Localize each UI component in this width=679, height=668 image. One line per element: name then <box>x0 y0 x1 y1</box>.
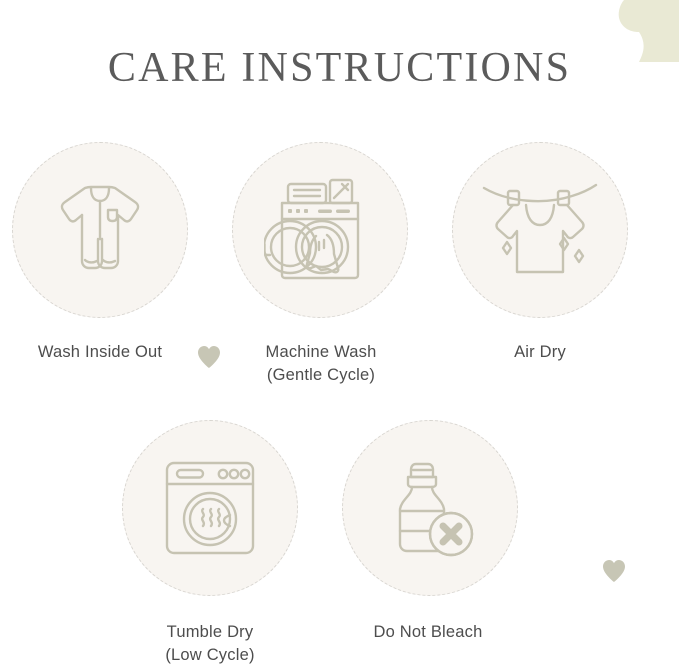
care-label-wash-inside-out: Wash Inside Out <box>0 341 200 364</box>
care-label-air-dry: Air Dry <box>440 341 640 364</box>
baby-onesie-icon <box>45 175 155 285</box>
tumble-dryer-icon <box>155 453 265 563</box>
heart-icon-bottom-right <box>601 558 627 584</box>
care-label-machine-wash: Machine Wash (Gentle Cycle) <box>221 341 421 387</box>
care-icon-circle-do-not-bleach <box>342 420 518 596</box>
care-icon-circle-wash-inside-out <box>12 142 188 318</box>
care-icon-circle-machine-wash <box>232 142 408 318</box>
care-icon-circle-tumble-dry <box>122 420 298 596</box>
washing-machine-icon <box>264 174 376 286</box>
page-title: CARE INSTRUCTIONS <box>0 44 679 92</box>
care-instructions-card: CARE INSTRUCTIONS Wash Inside Out <box>0 0 679 668</box>
care-label-do-not-bleach: Do Not Bleach <box>328 621 528 644</box>
care-icon-circle-air-dry <box>452 142 628 318</box>
no-bleach-bottle-icon <box>376 453 484 563</box>
care-label-tumble-dry: Tumble Dry (Low Cycle) <box>110 621 310 667</box>
clothesline-tshirt-icon <box>482 174 598 286</box>
